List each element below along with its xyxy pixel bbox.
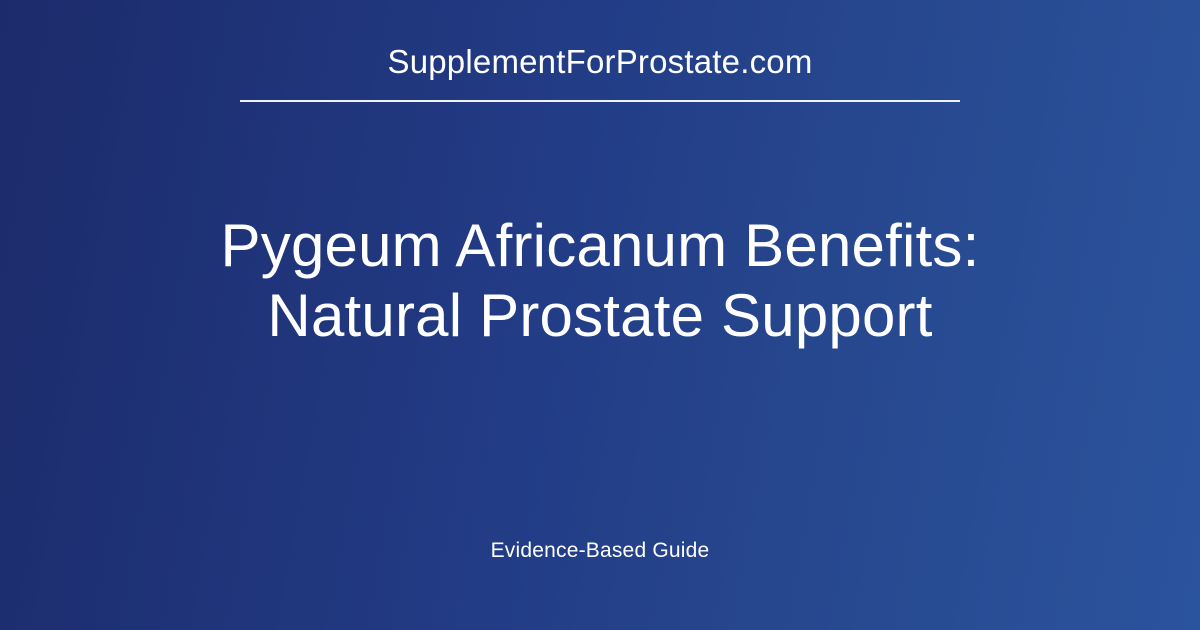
og-share-card: SupplementForProstate.com Pygeum African… [0,0,1200,630]
footer-area: Evidence-Based Guide [0,538,1200,564]
brand-header: SupplementForProstate.com [0,42,1200,102]
page-title: Pygeum Africanum Benefits: Natural Prost… [221,211,980,351]
page-title-line-2: Natural Prostate Support [221,281,980,351]
site-name: SupplementForProstate.com [387,42,812,82]
title-area: Pygeum Africanum Benefits: Natural Prost… [0,102,1200,538]
page-title-line-1: Pygeum Africanum Benefits: [221,211,980,281]
tagline: Evidence-Based Guide [491,538,710,564]
